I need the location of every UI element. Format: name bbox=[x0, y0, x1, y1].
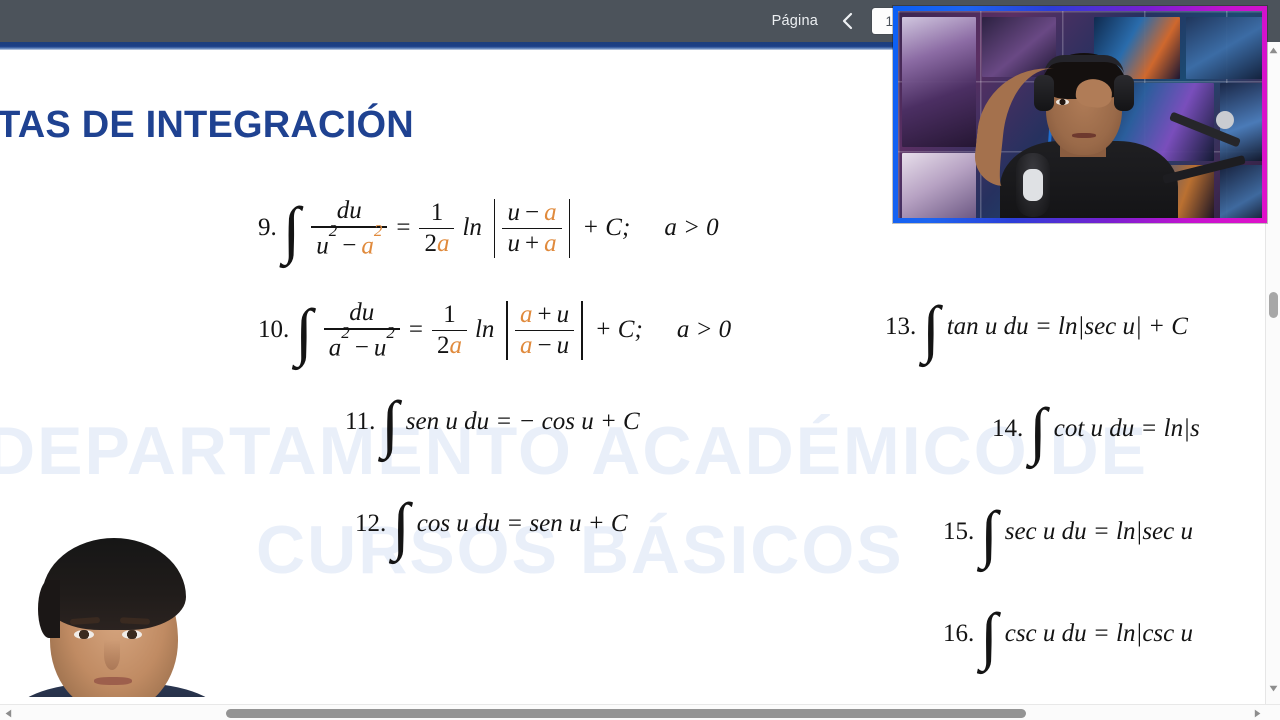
formula-13: 13. ∫ tan u du = ln|sec u| + C bbox=[885, 313, 1188, 341]
formula-9-denominator: u2−a2 bbox=[311, 228, 387, 260]
formula-11-body: sen u du = − cos u + C bbox=[406, 408, 640, 436]
stand-arm-lower bbox=[1162, 155, 1246, 184]
formula-16: 16. ∫ csc u du = ln|csc u bbox=[943, 620, 1193, 648]
formula-9-numerator: du bbox=[332, 197, 367, 226]
triangle-up-icon[interactable] bbox=[1266, 42, 1280, 58]
formula-9-fraction: du u2−a2 bbox=[311, 197, 387, 260]
formula-10-ln: ln bbox=[475, 316, 494, 344]
wall-poster bbox=[902, 17, 976, 147]
formula-10-denominator: a2−u2 bbox=[324, 330, 400, 362]
triangle-left-icon[interactable] bbox=[0, 705, 16, 720]
formula-10-coefficient: 1 2a bbox=[432, 301, 467, 361]
abs-bar-right bbox=[581, 301, 583, 361]
formula-9-condition: a > 0 bbox=[664, 214, 718, 242]
formula-9-plus-c: + C; bbox=[582, 214, 630, 242]
microphone-capsule bbox=[1023, 169, 1043, 201]
abs-top: u−a bbox=[502, 199, 561, 228]
formula-9-absolute: u−a u+a bbox=[491, 199, 573, 259]
formula-12-body: cos u du = sen u + C bbox=[417, 510, 628, 538]
page-label: Página bbox=[772, 13, 818, 29]
formula-10-abs-fraction: a+u a−u bbox=[515, 301, 574, 361]
formula-10-fraction: du a2−u2 bbox=[324, 299, 400, 362]
webcam-overlay[interactable] bbox=[893, 6, 1267, 223]
coef-bottom: 2a bbox=[419, 229, 454, 258]
formula-10-absolute: a+u a−u bbox=[503, 301, 585, 361]
formula-9-ln: ln bbox=[462, 214, 481, 242]
formula-13-body: tan u du = ln|sec u| + C bbox=[947, 313, 1188, 341]
formula-10-equals: = bbox=[409, 316, 423, 344]
formula-9-equals: = bbox=[396, 214, 410, 242]
chevron-left-icon[interactable] bbox=[836, 8, 860, 34]
abs-top: a+u bbox=[515, 301, 574, 330]
formula-14: 14. ∫ cot u du = ln|s bbox=[992, 415, 1200, 443]
formula-10-condition: a > 0 bbox=[677, 316, 731, 344]
abs-bar-right bbox=[569, 199, 571, 259]
wall-poster bbox=[1186, 17, 1262, 79]
formula-14-body: cot u du = ln|s bbox=[1054, 415, 1200, 443]
microphone bbox=[1016, 153, 1050, 218]
formula-12: 12. ∫ cos u du = sen u + C bbox=[355, 510, 628, 538]
formula-12-number: 12. bbox=[355, 510, 386, 538]
screen: Página 10 AS DIRECTAS DE INTEGRACIÓN DEP… bbox=[0, 0, 1280, 720]
formula-9-number: 9. bbox=[258, 214, 277, 242]
horizontal-scrollbar-thumb[interactable] bbox=[226, 709, 1026, 718]
formula-11-number: 11. bbox=[345, 408, 375, 436]
abs-bar-left bbox=[506, 301, 508, 361]
stand-knob bbox=[1216, 111, 1234, 129]
formula-10-plus-c: + C; bbox=[595, 316, 643, 344]
formula-10-number: 10. bbox=[258, 316, 289, 344]
formula-16-number: 16. bbox=[943, 620, 974, 648]
abs-bottom: a−u bbox=[515, 331, 574, 360]
vertical-scrollbar[interactable] bbox=[1265, 42, 1280, 720]
triangle-down-icon[interactable] bbox=[1266, 680, 1280, 696]
triangle-right-icon[interactable] bbox=[1249, 705, 1265, 720]
headphone-cup-right bbox=[1114, 75, 1134, 111]
formula-16-body: csc u du = ln|csc u bbox=[1005, 620, 1193, 648]
formula-10: 10. ∫ du a2−u2 = 1 2a ln bbox=[258, 299, 731, 362]
horizontal-scrollbar-track[interactable] bbox=[16, 705, 1249, 720]
formula-15-number: 15. bbox=[943, 518, 974, 546]
formula-9: 9. ∫ du u2−a2 = 1 2a ln bbox=[258, 197, 719, 260]
formula-9-coefficient: 1 2a bbox=[419, 199, 454, 259]
webcam-video bbox=[898, 11, 1262, 218]
coef-top: 1 bbox=[438, 301, 461, 330]
coef-top: 1 bbox=[426, 199, 449, 228]
abs-bottom: u+a bbox=[502, 229, 561, 258]
microphone-stand bbox=[1160, 107, 1256, 218]
formula-15: 15. ∫ sec u du = ln|sec u bbox=[943, 518, 1193, 546]
formula-15-body: sec u du = ln|sec u bbox=[1005, 518, 1193, 546]
coef-bottom: 2a bbox=[432, 331, 467, 360]
formula-11: 11. ∫ sen u du = − cos u + C bbox=[345, 408, 640, 436]
formula-14-number: 14. bbox=[992, 415, 1023, 443]
vertical-scrollbar-thumb[interactable] bbox=[1269, 292, 1278, 318]
wall-poster bbox=[902, 153, 976, 218]
formula-9-abs-fraction: u−a u+a bbox=[502, 199, 561, 259]
horizontal-scrollbar[interactable] bbox=[0, 704, 1280, 720]
formula-13-number: 13. bbox=[885, 313, 916, 341]
abs-bar-left bbox=[494, 199, 496, 259]
